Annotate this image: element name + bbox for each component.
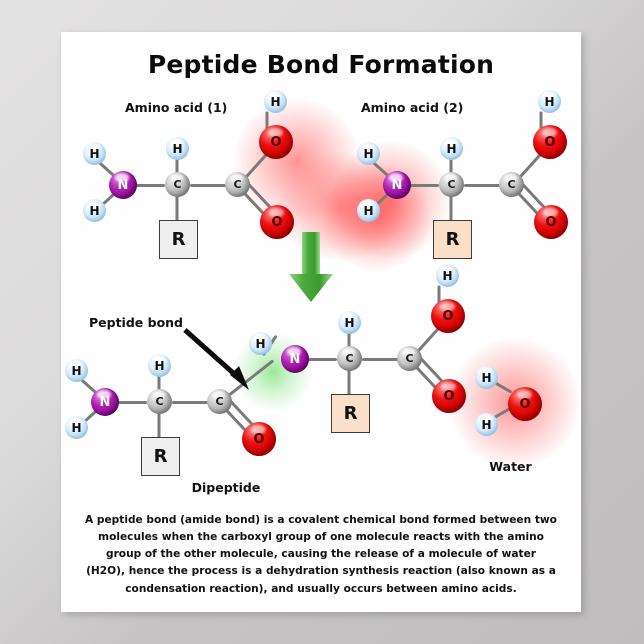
atom-nitrogen-aa2: N (383, 171, 411, 199)
atom-hydrogen-hydroxyl-aa1: H (264, 90, 287, 113)
atom-nitrogen-amide-dipeptide: N (281, 345, 309, 373)
atom-oxygen-hydroxyl-aa2: O (533, 125, 567, 159)
atom-hydrogen-alpha-dipeptide: H (148, 354, 171, 377)
r-group-aa1: R (159, 220, 198, 259)
label-amino-acid-2: Amino acid (2) (361, 100, 463, 115)
page-title: Peptide Bond Formation (61, 50, 581, 79)
atom-hydrogen-amine-upper-aa2: H (357, 142, 380, 165)
screenshot-root: Peptide Bond Formation Amino acid (1) H … (0, 0, 644, 644)
atom-nitrogen-aa1: N (109, 171, 137, 199)
atom-hydrogen-amine-lower-aa1: H (83, 199, 106, 222)
atom-hydrogen-amine-lower-dipeptide: H (65, 416, 88, 439)
atom-hydrogen-lower-water: H (475, 413, 498, 436)
atom-carbon-alpha2-dipeptide: C (337, 346, 362, 371)
r-group-aa2: R (433, 220, 472, 259)
caption-text: A peptide bond (amide bond) is a covalen… (85, 512, 557, 598)
label-dipeptide: Dipeptide (61, 480, 391, 495)
atom-carbon-alpha-dipeptide: C (147, 389, 172, 414)
atom-hydrogen-amine-lower-aa2: H (357, 199, 380, 222)
atom-hydrogen-alpha-aa1: H (166, 137, 189, 160)
atom-oxygen-water: O (508, 387, 542, 421)
atom-oxygen-carbonyl-aa2: O (534, 205, 568, 239)
atom-carbon-alpha-aa2: C (439, 172, 464, 197)
reaction-arrow-icon (281, 232, 341, 304)
reaction-highlight-oh-glow (233, 98, 361, 226)
atom-hydrogen-alpha2-dipeptide: H (338, 311, 361, 334)
poster: Peptide Bond Formation Amino acid (1) H … (61, 32, 581, 612)
atom-hydrogen-upper-water: H (475, 366, 498, 389)
label-peptide-bond: Peptide bond (89, 315, 183, 330)
poster-inner: Peptide Bond Formation Amino acid (1) H … (61, 32, 581, 612)
atom-hydrogen-amine-upper-aa1: H (83, 142, 106, 165)
atom-carbon-carboxyl-aa2: C (499, 172, 524, 197)
atom-carbon-carboxyl-dipeptide: C (397, 346, 422, 371)
atom-hydrogen-amine-upper-dipeptide: H (65, 359, 88, 382)
atom-hydrogen-hydroxyl-aa2: H (538, 90, 561, 113)
atom-oxygen-hydroxyl-aa1: O (259, 125, 293, 159)
atom-hydrogen-alpha-aa2: H (440, 137, 463, 160)
label-water: Water (443, 459, 578, 474)
label-amino-acid-1: Amino acid (1) (125, 100, 227, 115)
atom-oxygen-carbonyl-aa1: O (260, 205, 294, 239)
peptide-bond-pointer-icon (181, 324, 263, 396)
r-group-dipeptide-2: R (331, 394, 370, 433)
atom-oxygen-carbonyl-dipeptide: O (242, 422, 276, 456)
atom-hydrogen-hydroxyl-dipeptide: H (436, 264, 459, 287)
atom-carbon-alpha-aa1: C (165, 172, 190, 197)
atom-oxygen-hydroxyl-dipeptide: O (431, 299, 465, 333)
r-group-dipeptide-1: R (141, 437, 180, 476)
atom-nitrogen-dipeptide: N (91, 388, 119, 416)
atom-oxygen-carbonyl2-dipeptide: O (432, 379, 466, 413)
atom-carbon-carboxyl-aa1: C (225, 172, 250, 197)
